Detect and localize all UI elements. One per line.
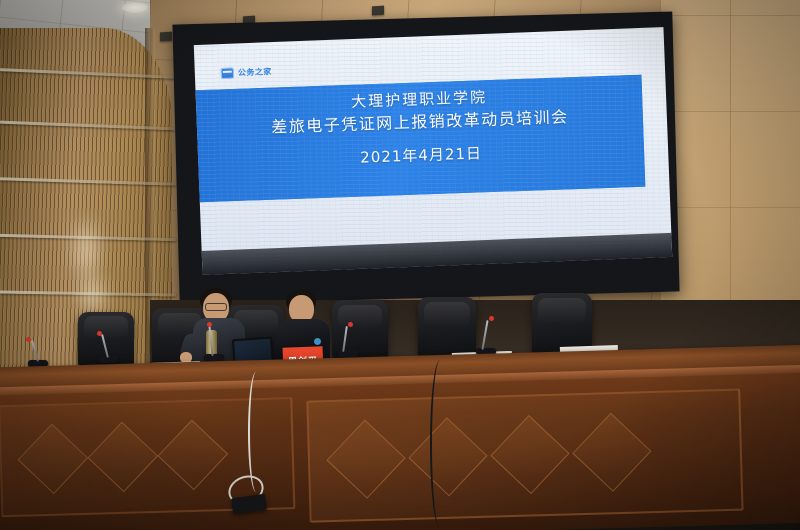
panel-diamond xyxy=(326,420,405,499)
panel-diamond xyxy=(87,422,158,493)
panel-diamond xyxy=(572,413,651,492)
cable xyxy=(430,360,450,528)
shirt-badge-icon xyxy=(314,338,321,345)
recessed-light-icon xyxy=(122,2,148,13)
panel-diamond xyxy=(18,423,89,494)
panel-diamond xyxy=(490,415,569,494)
chair xyxy=(418,297,476,359)
panel-diamond xyxy=(157,420,228,491)
conference-hall-photo: 公务之家 大理护理职业学院 差旅电子凭证网上报销改革动员培训会 2021年4月2… xyxy=(0,0,800,530)
cable xyxy=(248,372,264,492)
wall-speaker-icon xyxy=(372,6,384,16)
podium-front-panel xyxy=(0,372,800,530)
glasses-icon xyxy=(205,303,227,311)
wall-speaker-icon xyxy=(160,32,172,42)
podium-panel-right xyxy=(306,389,743,523)
projection-screen: 公务之家 大理护理职业学院 差旅电子凭证网上报销改革动员培训会 2021年4月2… xyxy=(194,27,672,275)
